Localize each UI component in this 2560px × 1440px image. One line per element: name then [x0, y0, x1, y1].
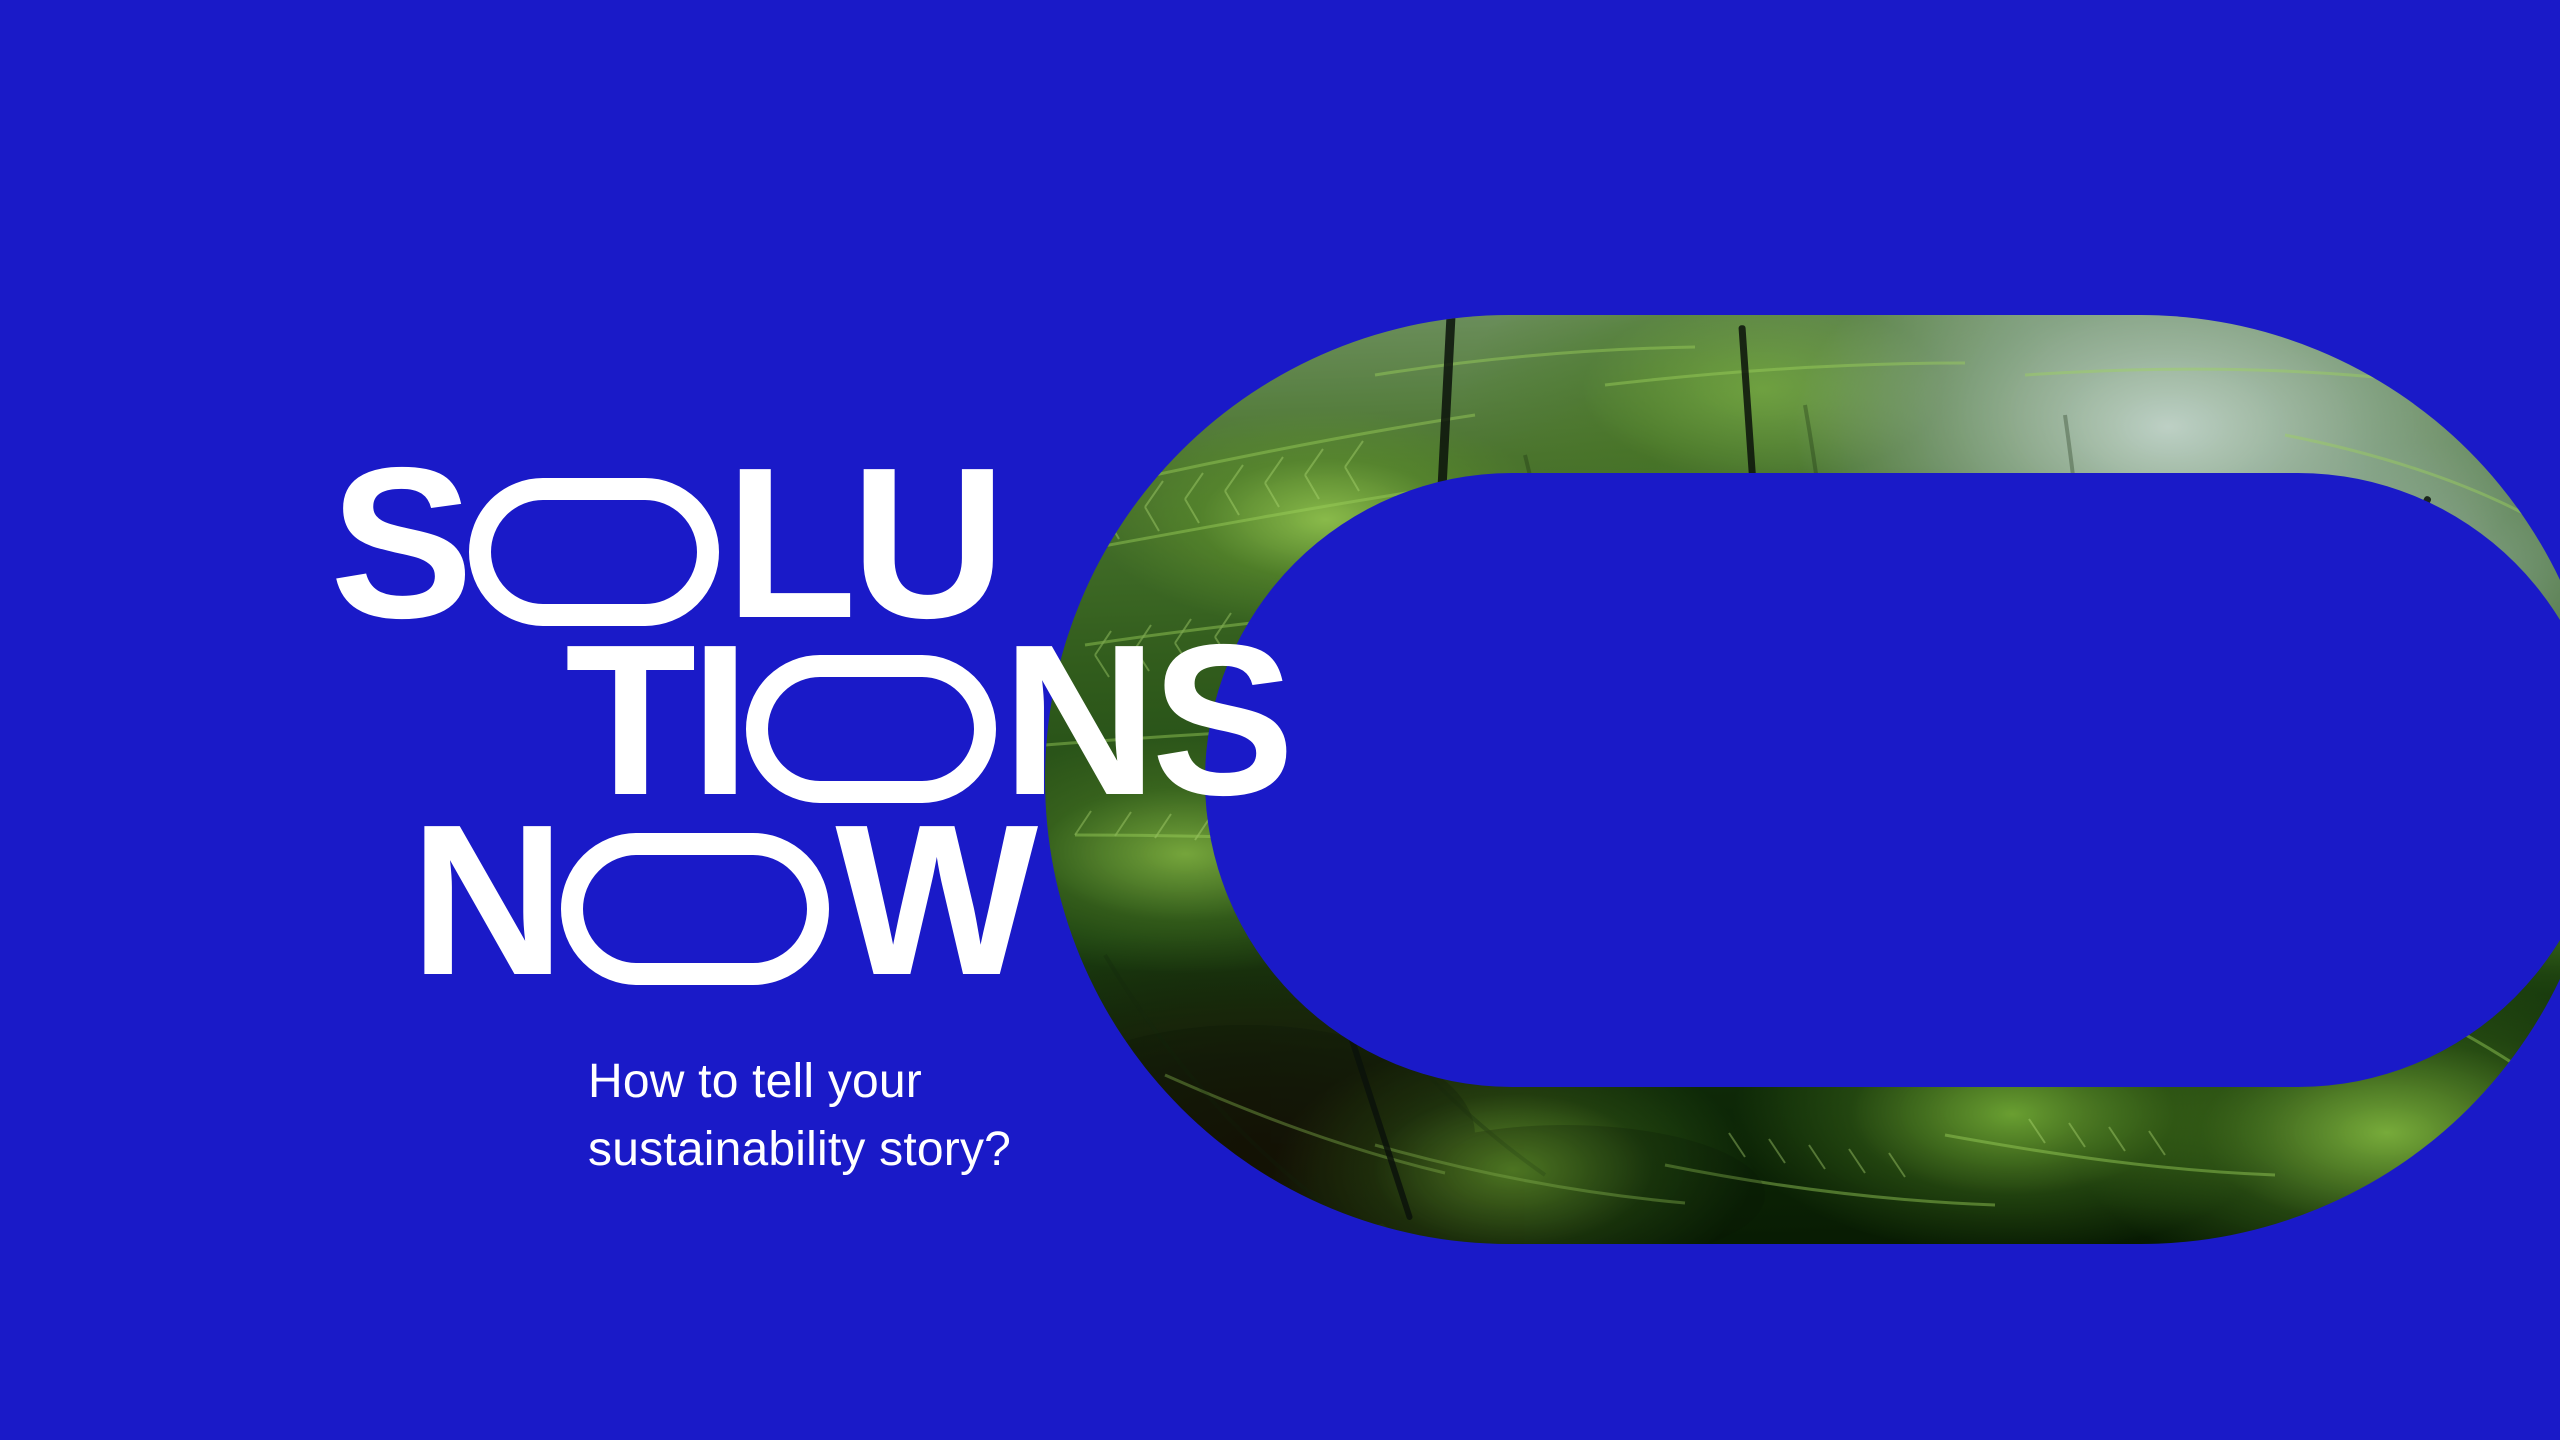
- headline-line-3: N W: [410, 805, 1032, 995]
- pill-o-icon-1: [469, 478, 719, 626]
- subtitle-line-2: sustainability story?: [588, 1116, 1208, 1184]
- headline-text-now-a: N: [410, 805, 559, 995]
- headline-line-1: S LU: [330, 448, 1000, 638]
- headline-text-tions-a: TI: [565, 625, 744, 815]
- headline-text-solu-b: LU: [725, 448, 1000, 638]
- headline-text-now-b: W: [835, 805, 1032, 995]
- pill-o-icon-2: [746, 655, 996, 803]
- pill-o-icon-3: [561, 833, 829, 985]
- subtitle-line-1: How to tell your: [588, 1048, 1208, 1116]
- subtitle-block: How to tell your sustainability story?: [588, 1048, 1208, 1184]
- headline-text-solu-a: S: [330, 448, 467, 638]
- slide-canvas: S LU TI NS N W How to tell your sustaina…: [0, 0, 2560, 1440]
- inner-blue-pill-cutout: [1205, 473, 2560, 1087]
